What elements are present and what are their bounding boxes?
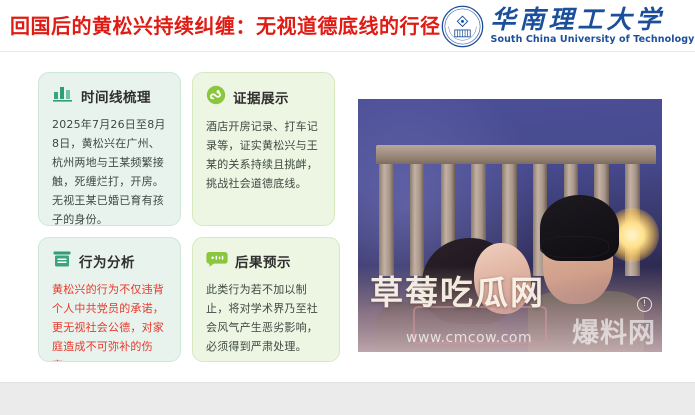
ruins-entablature <box>376 145 656 165</box>
card-behavior-header: 行为分析 <box>52 250 168 272</box>
university-brand: 华南理工大学 South China University of Technol… <box>441 5 695 48</box>
card-behavior-body: 黄松兴的行为不仅违背个人中共党员的承诺，更无视社会公德，对家庭造成不可弥补的伤害… <box>52 281 168 362</box>
page-footer <box>0 374 695 414</box>
university-seal-icon <box>441 5 484 48</box>
watermark-secondary: 爆料网 <box>572 311 656 350</box>
card-timeline-title: 时间线梳理 <box>81 86 151 106</box>
card-outcome-header: 后果预示 <box>206 250 327 272</box>
footer-band <box>0 382 695 415</box>
document-card-icon <box>52 250 72 272</box>
green-badge-icon <box>206 85 226 109</box>
card-outcome-body: 此类行为若不加以制止，将对学术界乃至社会风气产生恶劣影响，必须得到严肃处理。 <box>206 281 327 357</box>
card-evidence-body: 酒店开房记录、打车记录等，证实黄松兴与王某的关系持续且挑衅，挑战社会道德底线。 <box>206 118 322 194</box>
card-behavior-title: 行为分析 <box>79 251 135 271</box>
page-header: 回国后的黄松兴持续纠缠：无视道德底线的行径 华南理工大学 South China… <box>0 0 695 52</box>
brand-name-cn: 华南理工大学 <box>491 7 665 32</box>
couple-kissing-photo[interactable]: 草莓吃瓜网 ! www.cmcow.com 爆料网 <box>358 99 662 352</box>
slide-body: 时间线梳理 2025年7月26日至8月8日，黄松兴在广州、杭州两地与王某频繁接触… <box>0 52 695 374</box>
card-behavior[interactable]: 行为分析 黄松兴的行为不仅违背个人中共党员的承诺，更无视社会公德，对家庭造成不可… <box>38 237 181 362</box>
card-evidence-header: 证据展示 <box>206 85 322 109</box>
card-outcome-title: 后果预示 <box>235 251 291 271</box>
brand-names: 华南理工大学 South China University of Technol… <box>491 7 695 45</box>
speech-bubble-icon <box>206 250 228 272</box>
watermark-url: www.cmcow.com <box>406 330 532 346</box>
watermark-registered-icon: ! <box>637 297 652 312</box>
page-title: 回国后的黄松兴持续纠缠：无视道德底线的行径 <box>10 15 441 37</box>
man-glasses <box>540 236 609 258</box>
bar-chart-icon <box>52 85 74 107</box>
card-evidence[interactable]: 证据展示 酒店开房记录、打车记录等，证实黄松兴与王某的关系持续且挑衅，挑战社会道… <box>192 72 335 226</box>
watermark-main: 草莓吃瓜网 <box>370 266 545 314</box>
card-timeline[interactable]: 时间线梳理 2025年7月26日至8月8日，黄松兴在广州、杭州两地与王某频繁接触… <box>38 72 181 226</box>
card-timeline-body: 2025年7月26日至8月8日，黄松兴在广州、杭州两地与王某频繁接触，死缠烂打，… <box>52 116 168 226</box>
card-evidence-title: 证据展示 <box>233 87 289 107</box>
ruins-column <box>410 164 425 276</box>
brand-name-en: South China University of Technology <box>491 35 695 45</box>
card-outcome[interactable]: 后果预示 此类行为若不加以制止，将对学术界乃至社会风气产生恶劣影响，必须得到严肃… <box>192 237 340 362</box>
card-timeline-header: 时间线梳理 <box>52 85 168 107</box>
ruins-column <box>379 164 394 276</box>
